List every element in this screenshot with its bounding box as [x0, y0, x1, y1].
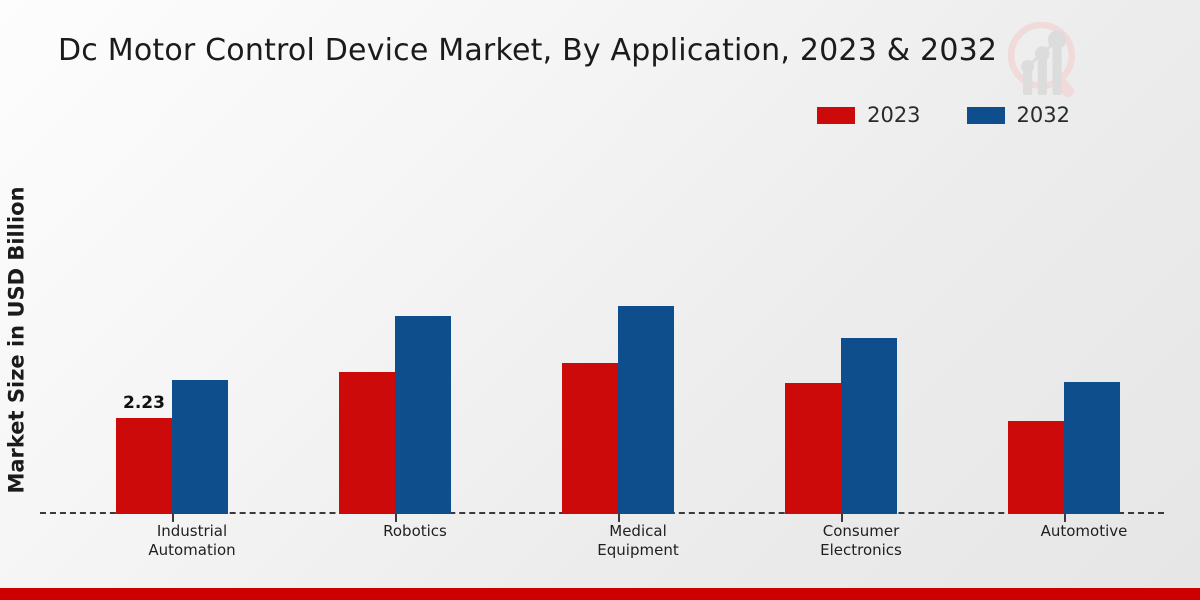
legend-entry-2023[interactable]: 2023 [817, 103, 920, 127]
bar-2032-medical-equipment[interactable] [618, 306, 674, 514]
bar-group-robotics: Robotics [325, 140, 505, 514]
x-axis-label-medical-equipment: Medical Equipment [548, 522, 728, 560]
x-axis-tick [841, 514, 843, 522]
x-axis-tick [618, 514, 620, 522]
x-axis-tick [395, 514, 397, 522]
x-axis-tick [1064, 514, 1066, 522]
plot-area: 2.23 Industrial Automation Robotics [40, 140, 1164, 514]
chart-title: Dc Motor Control Device Market, By Appli… [58, 33, 997, 68]
bar-2032-robotics[interactable] [395, 316, 451, 514]
bar-value-label: 2.23 [123, 393, 165, 413]
bar-group-automotive: Automotive [994, 140, 1174, 514]
bar-2023-consumer-electronics[interactable] [785, 383, 841, 514]
y-axis-title-text: Market Size in USD Billion [5, 186, 29, 493]
x-axis-tick [172, 514, 174, 522]
bar-group-consumer-electronics: Consumer Electronics [771, 140, 951, 514]
legend-swatch-2032 [967, 107, 1005, 124]
bar-2023-medical-equipment[interactable] [562, 363, 618, 514]
bar-2032-industrial-automation[interactable] [172, 380, 228, 514]
bar-2023-industrial-automation[interactable]: 2.23 [116, 418, 172, 514]
bar-group-medical-equipment: Medical Equipment [548, 140, 728, 514]
x-axis-label-consumer-electronics: Consumer Electronics [771, 522, 951, 560]
chart-legend: 2023 2032 [817, 103, 1070, 127]
bar-2032-automotive[interactable] [1064, 382, 1120, 514]
x-axis-label-automotive: Automotive [994, 522, 1174, 541]
x-axis-label-industrial-automation: Industrial Automation [102, 522, 282, 560]
bar-2023-robotics[interactable] [339, 372, 395, 514]
chart-figure: Dc Motor Control Device Market, By Appli… [0, 0, 1200, 600]
bottom-accent-band [0, 588, 1200, 600]
bar-2023-automotive[interactable] [1008, 421, 1064, 514]
legend-entry-2032[interactable]: 2032 [967, 103, 1070, 127]
legend-swatch-2023 [817, 107, 855, 124]
legend-label-2032: 2032 [1017, 103, 1070, 127]
watermark-logo-icon [1000, 14, 1092, 106]
bar-group-industrial-automation: 2.23 Industrial Automation [102, 140, 282, 514]
x-axis-label-robotics: Robotics [325, 522, 505, 541]
legend-label-2023: 2023 [867, 103, 920, 127]
bar-2032-consumer-electronics[interactable] [841, 338, 897, 514]
y-axis-title: Market Size in USD Billion [0, 175, 34, 505]
